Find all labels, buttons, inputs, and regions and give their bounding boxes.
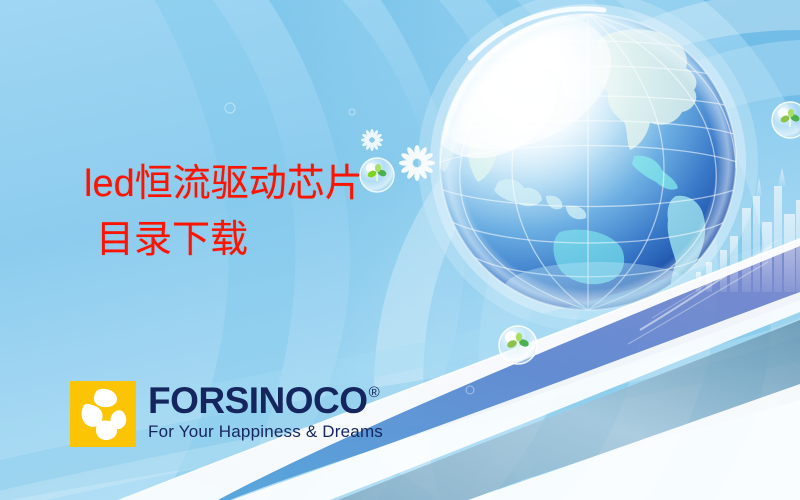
headline-line-2: 目录下载	[96, 220, 363, 260]
registered-trademark-icon: ®	[369, 385, 380, 400]
logo-tagline: For Your Happiness & Dreams	[148, 422, 383, 442]
forsinoco-pinwheel-mark	[70, 381, 136, 447]
banner-image: led恒流驱动芯片 目录下载 FORSINOCO ® For Your Happ…	[0, 0, 800, 500]
eco-bubble	[499, 326, 537, 364]
pinwheel-icon	[70, 381, 136, 447]
eco-bubble	[772, 102, 800, 138]
forsinoco-logo[interactable]: FORSINOCO ® For Your Happiness & Dreams	[70, 381, 383, 447]
logo-text-block: FORSINOCO ® For Your Happiness & Dreams	[148, 381, 383, 442]
logo-wordmark-row: FORSINOCO ®	[148, 383, 383, 419]
eco-bubble	[360, 158, 394, 192]
logo-wordmark: FORSINOCO	[148, 383, 368, 419]
headline-text: led恒流驱动芯片 目录下载	[84, 164, 363, 261]
headline-line-1: led恒流驱动芯片	[84, 164, 363, 204]
